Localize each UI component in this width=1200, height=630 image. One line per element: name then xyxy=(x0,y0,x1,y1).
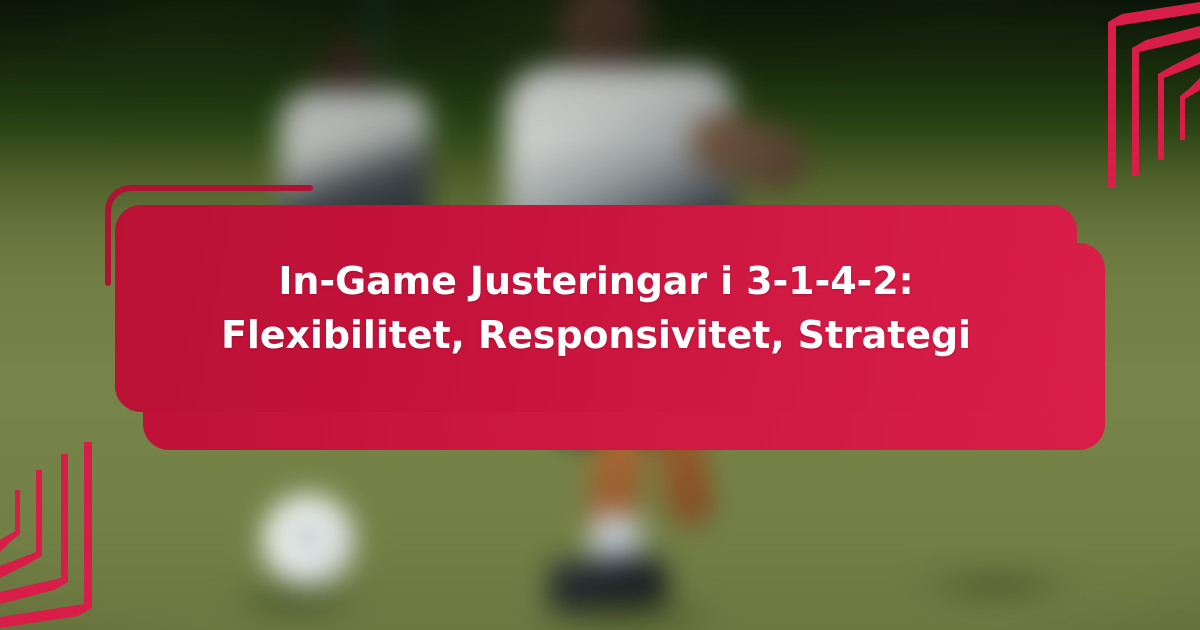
title-card-stack: In-Game Justeringar i 3-1-4-2: Flexibili… xyxy=(105,185,1105,450)
corner-ornament-top-right xyxy=(910,0,1200,200)
corner-ornament-bottom-left xyxy=(0,430,290,630)
title-card: In-Game Justeringar i 3-1-4-2: Flexibili… xyxy=(115,205,1077,412)
page-title: In-Game Justeringar i 3-1-4-2: Flexibili… xyxy=(171,255,1021,363)
chevron-lines-icon xyxy=(0,430,290,630)
chevron-lines-icon xyxy=(910,0,1200,200)
